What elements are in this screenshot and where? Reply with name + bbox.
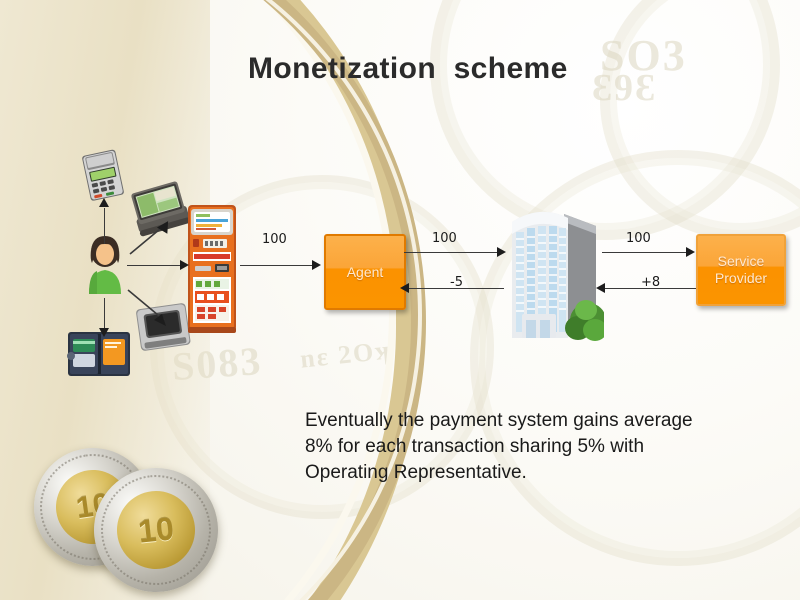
flow-line-kiosk-agent	[240, 265, 318, 266]
watermark-label-mid: Ɛ9Ɛ	[592, 66, 657, 110]
flow-line-customer-agent-left	[127, 265, 187, 266]
flow-line-bank-provider	[602, 252, 690, 253]
watermark-coin-large	[430, 0, 780, 240]
flow-line-agent-bank	[404, 252, 502, 253]
service-provider-label-line2: Provider	[715, 270, 767, 287]
page-title: Monetization scheme	[248, 52, 568, 86]
flow-arrowhead-kiosk-agent	[312, 260, 321, 270]
flow-label-bank-provider: 100	[626, 231, 651, 246]
arrow-person-to-card-reader	[126, 288, 172, 330]
flow-arrowhead-bank-agent	[400, 283, 409, 293]
arrow-person-to-handheld	[126, 218, 170, 258]
office-building-icon	[500, 196, 604, 346]
flow-label-customer-agent: 100	[262, 232, 287, 247]
slide-canvas: SO3 Ɛ9Ɛ S083 nε 2Oʞ Monetization scheme	[0, 0, 800, 600]
agent-node-label: Agent	[347, 264, 384, 281]
service-provider-label-line1: Service	[715, 253, 767, 270]
service-provider-node[interactable]: Service Provider	[696, 234, 786, 306]
flow-arrowhead-bank-provider	[686, 247, 695, 257]
flow-label-bank-agent: -5	[450, 275, 463, 290]
agent-node[interactable]: Agent	[324, 234, 406, 310]
flow-arrowhead-customer-kiosk	[180, 260, 189, 270]
flow-label-agent-bank: 100	[432, 231, 457, 246]
flow-arrowhead-provider-bank	[596, 283, 605, 293]
body-paragraph: Eventually the payment system gains aver…	[305, 408, 725, 486]
pos-terminal-icon	[78, 148, 130, 202]
payment-kiosk-icon	[184, 203, 240, 333]
watermark-label-top: SO3	[600, 30, 687, 81]
flow-label-provider-bank: +8	[641, 275, 660, 290]
watermark-coin-medium	[600, 0, 800, 240]
customer-person-icon	[83, 232, 127, 294]
